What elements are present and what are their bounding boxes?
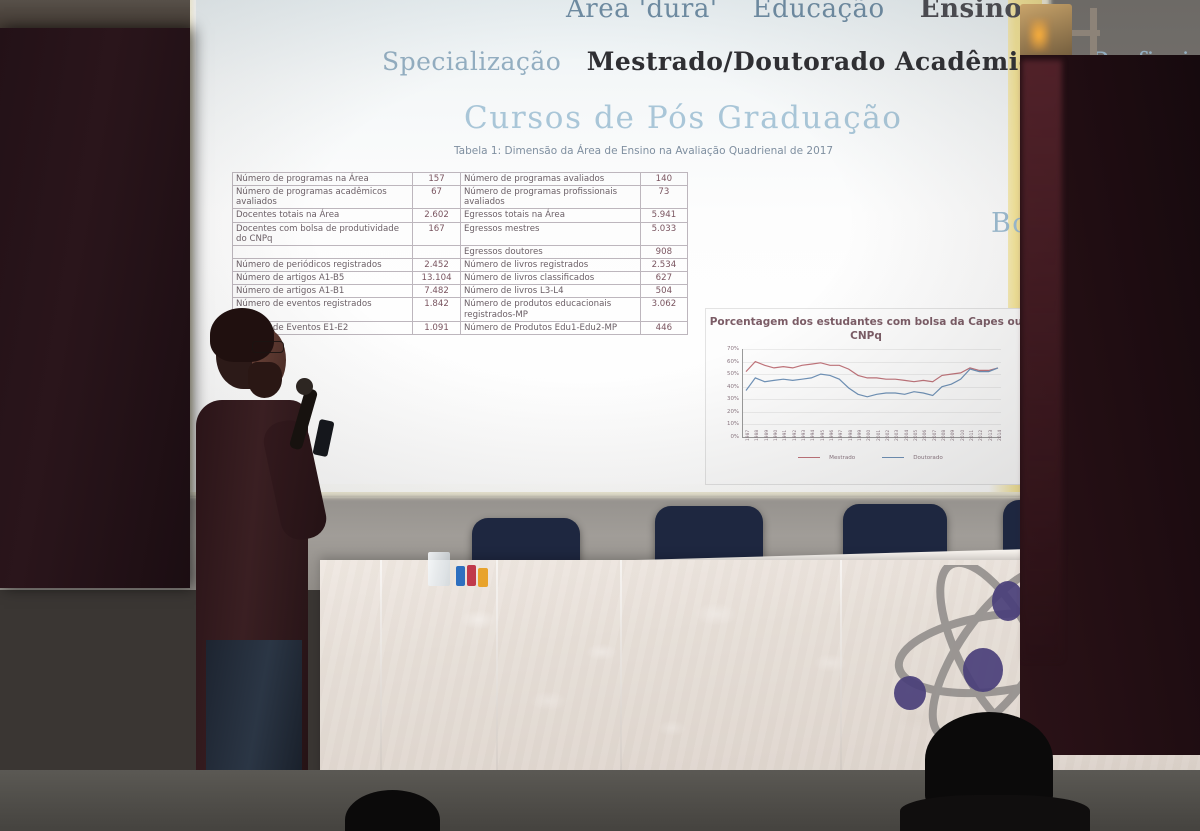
table-cell-value: 73: [640, 186, 687, 209]
chart-x-tick-label: 1992: [793, 430, 798, 441]
table-row: Docentes totais na Área2.602Egressos tot…: [233, 209, 688, 222]
chart-x-tick-label: 1989: [765, 430, 770, 441]
table-cell-value: 3.062: [640, 298, 687, 321]
header-educacao: Educação: [753, 0, 885, 24]
speaker-glasses: [252, 341, 284, 353]
chart-x-tick-label: 1994: [811, 430, 816, 441]
header-especializacao: Specialização: [382, 47, 561, 76]
table-cell-value: 157: [413, 173, 461, 186]
blue-bottle: [456, 566, 465, 586]
curtain-right-highlight: [1022, 60, 1062, 660]
chart-x-tick-label: 1991: [783, 430, 788, 441]
table-cell-label: Docentes totais na Área: [233, 209, 413, 222]
chart-x-tick-label: 2001: [877, 430, 882, 441]
chart-x-tick-label: 1993: [802, 430, 807, 441]
table-cell-value: 5.033: [640, 222, 687, 245]
chart-x-tick-label: 2005: [914, 430, 919, 441]
audience-head-right: [925, 712, 1053, 807]
curtain-left: [0, 28, 190, 588]
table-cell-label: Egressos doutores: [460, 245, 640, 258]
table-row: Número de programas na Área157Número de …: [233, 173, 688, 186]
chart-y-tick-label: 50%: [713, 371, 739, 377]
chart-x-tick-label: 2000: [867, 430, 872, 441]
chart-x-tick-label: 2008: [942, 430, 947, 441]
audience-shoulders: [900, 795, 1090, 831]
table-cell-label: Número de programas avaliados: [460, 173, 640, 186]
chart-x-tick-label: 1995: [821, 430, 826, 441]
table-caption: Tabela 1: Dimensão da Área de Ensino na …: [454, 145, 833, 157]
chart-x-tick-label: 2010: [961, 430, 966, 441]
header-ensino: Ensino: [920, 0, 1022, 24]
table-cell-value: 7.482: [413, 285, 461, 298]
lamp-glow: [1028, 18, 1050, 52]
chart-x-tick-label: 2002: [886, 430, 891, 441]
table-cell-value: 1.091: [413, 321, 461, 334]
chart-legend: MestradoDoutorado: [706, 455, 1026, 461]
chart-plot-area: 0%10%20%30%40%50%60%70%: [742, 349, 1001, 438]
chart-x-tick-label: 1990: [774, 430, 779, 441]
chart-y-tick-label: 10%: [713, 421, 739, 427]
table-row: Número de programas acadêmicos avaliados…: [233, 186, 688, 209]
water-glass: [428, 552, 450, 586]
table-cell-value: 13.104: [413, 272, 461, 285]
chart-x-tick-label: 2009: [951, 430, 956, 441]
chart-x-tick-label: 1997: [839, 430, 844, 441]
chart-x-tick-label: 1996: [830, 430, 835, 441]
chart-x-tick-label: 1988: [755, 430, 760, 441]
table-cell-value: 1.842: [413, 298, 461, 321]
chart-legend-item: Doutorado: [873, 455, 943, 461]
table-cell-value: 627: [640, 272, 687, 285]
dimension-table: Número de programas na Área157Número de …: [232, 172, 688, 335]
chart-y-tick-label: 0%: [713, 434, 739, 440]
bolsa-percentage-chart: Porcentagem dos estudantes com bolsa da …: [705, 308, 1027, 485]
chart-x-tick-label: 2003: [895, 430, 900, 441]
table-row: Número de artigos A1-B513.104Número de l…: [233, 272, 688, 285]
table-cell-label: Número de livros classificados: [460, 272, 640, 285]
table-cell-value: 2.534: [640, 258, 687, 271]
chart-x-tick-label: 1998: [849, 430, 854, 441]
table-row: Egressos doutores908: [233, 245, 688, 258]
table-cell-label: Número de artigos A1-B1: [233, 285, 413, 298]
chart-x-tick-label: 2011: [970, 430, 975, 441]
presentation-scene: Área 'dura' Educação Ensino Specializaçã…: [0, 0, 1200, 831]
table-row: Número de periódicos registrados2.452Núm…: [233, 258, 688, 271]
chart-y-tick-label: 70%: [713, 346, 739, 352]
chart-y-tick-label: 20%: [713, 409, 739, 415]
orange-bottle: [478, 568, 488, 587]
red-bottle: [467, 565, 476, 586]
table-cell-value: 2.452: [413, 258, 461, 271]
table-row: Número de artigos A1-B17.482Número de li…: [233, 285, 688, 298]
table-cell-value: 2.602: [413, 209, 461, 222]
table-cell-label: Número de programas acadêmicos avaliados: [233, 186, 413, 209]
table-cell-value: 908: [640, 245, 687, 258]
chart-legend-swatch: [882, 457, 904, 458]
table-row: Docentes com bolsa de produtividade do C…: [233, 222, 688, 245]
chart-x-tick-label: 2012: [979, 430, 984, 441]
chart-legend-swatch: [798, 457, 820, 458]
table-cell-label: Número de programas na Área: [233, 173, 413, 186]
table-cell-label: Docentes com bolsa de produtividade do C…: [233, 222, 413, 245]
chart-y-tick-label: 60%: [713, 359, 739, 365]
chart-y-tick-label: 30%: [713, 396, 739, 402]
table-cell-value: 67: [413, 186, 461, 209]
slide-header-line-1: Área 'dura' Educação Ensino: [566, 0, 1022, 24]
header-mestrado-doutorado: Mestrado/Doutorado Acadêmico: [587, 47, 1052, 76]
table-cell-value: [413, 245, 461, 258]
table-cell-label: [233, 245, 413, 258]
table-cell-label: Número de programas profissionais avalia…: [460, 186, 640, 209]
chart-series-line: [746, 368, 998, 397]
microphone-head: [296, 378, 313, 395]
chart-x-tick-label: 2013: [989, 430, 994, 441]
table-cell-label: Número de periódicos registrados: [233, 258, 413, 271]
header-area-dura: Área 'dura': [566, 0, 717, 24]
chart-x-tick-label: 1987: [746, 430, 751, 441]
table-row: Número de Eventos E1-E21.091Número de Pr…: [233, 321, 688, 334]
chart-x-tick-label: 2006: [923, 430, 928, 441]
table-cell-label: Egressos mestres: [460, 222, 640, 245]
chart-y-tick-label: 40%: [713, 384, 739, 390]
table-cell-label: Número de Produtos Edu1-Edu2-MP: [460, 321, 640, 334]
chart-x-tick-label: 2004: [905, 430, 910, 441]
speaker-hair: [210, 308, 274, 362]
table-cell-value: 140: [640, 173, 687, 186]
chart-x-tick-label: 2007: [933, 430, 938, 441]
table-cell-value: 446: [640, 321, 687, 334]
chart-legend-item: Mestrado: [789, 455, 855, 461]
table-cell-value: 5.941: [640, 209, 687, 222]
chart-title: Porcentagem dos estudantes com bolsa da …: [706, 315, 1026, 343]
table-cell-value: 167: [413, 222, 461, 245]
table-cell-label: Número de artigos A1-B5: [233, 272, 413, 285]
table-cell-label: Egressos totais na Área: [460, 209, 640, 222]
slide-title: Cursos de Pós Graduação: [464, 100, 903, 136]
table-cell-label: Número de produtos educacionais registra…: [460, 298, 640, 321]
table-cell-label: Número de livros L3-L4: [460, 285, 640, 298]
table-cell-value: 504: [640, 285, 687, 298]
table-row: Número de eventos registrados1.842Número…: [233, 298, 688, 321]
chart-x-tick-label: 1999: [858, 430, 863, 441]
table-cell-label: Número de livros registrados: [460, 258, 640, 271]
chart-x-tick-label: 2014: [998, 430, 1003, 441]
